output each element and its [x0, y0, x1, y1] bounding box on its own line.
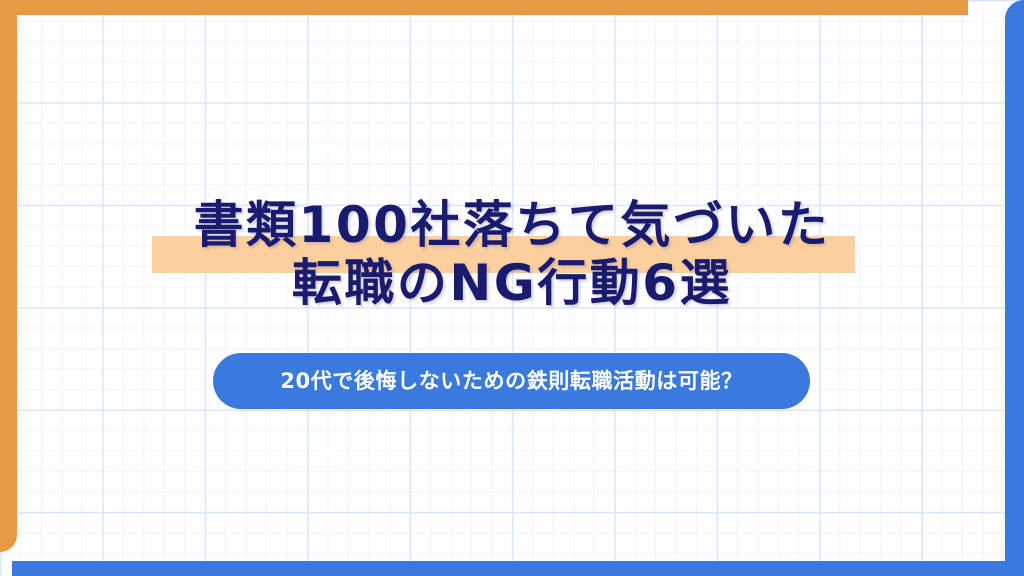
decorative-bar-blue-right	[1005, 0, 1024, 576]
decorative-bar-orange-top	[0, 0, 968, 15]
title-highlight-band	[152, 236, 855, 273]
slide-canvas: 書類100社落ちて気づいた 転職のNG行動6選 20代で後悔しないための鉄則転職…	[0, 0, 1024, 576]
decorative-bar-orange-left	[0, 0, 17, 552]
decorative-bar-blue-bottom	[12, 561, 1024, 576]
graph-paper-background	[0, 0, 1024, 576]
